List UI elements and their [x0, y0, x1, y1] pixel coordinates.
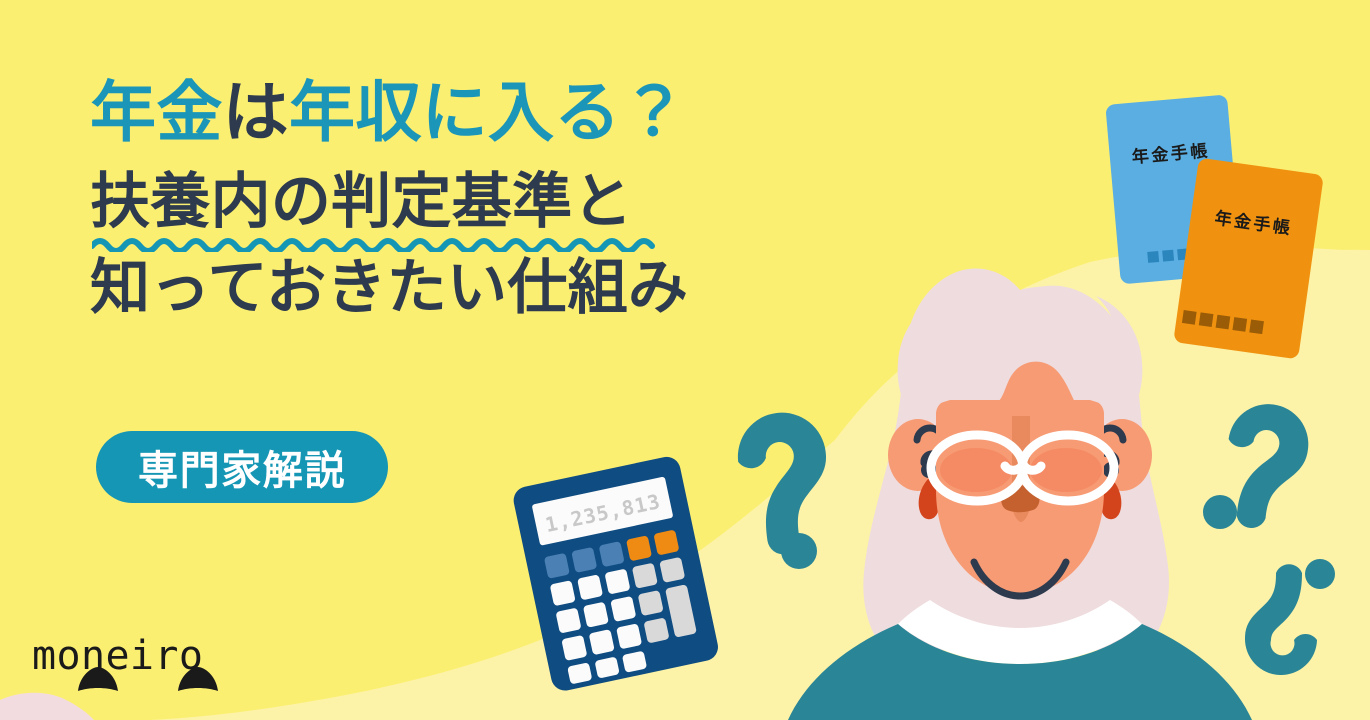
- headline-line-2-wrap: 扶養内の判定基準と: [90, 166, 688, 238]
- headline-line1-part-2: は: [223, 74, 289, 151]
- headline-line1-part-3: 年収に入る？: [289, 74, 687, 151]
- headline-line-1: 年金は年収に入る？: [90, 74, 688, 152]
- calculator-illustration: 1,235,813: [511, 454, 721, 693]
- status-badge-label: 専門家解説: [138, 438, 346, 496]
- status-badge: 専門家解説: [96, 431, 388, 503]
- character-cheek-left: [940, 448, 1012, 492]
- headline-line-2: 扶養内の判定基準と: [90, 166, 688, 238]
- logo-hill-right-icon: [176, 666, 220, 692]
- question-mark-inverted-icon: [1245, 559, 1335, 675]
- question-mark-left-icon: [732, 407, 839, 569]
- pension-booklet-orange: 年金手帳: [1173, 158, 1324, 360]
- headline-line1-part-1: 年金: [90, 74, 223, 151]
- wavy-underline-icon: [92, 234, 662, 252]
- question-mark-right-icon: [1203, 400, 1312, 533]
- logo-hill-left-icon: [76, 666, 120, 692]
- hero-banner: 年金手帳 年金手帳: [0, 0, 1370, 720]
- headline-line-3: 知っておきたい仕組み: [90, 252, 688, 324]
- logo[interactable]: moneiro: [28, 636, 228, 702]
- headline-block: 年金は年収に入る？ 扶養内の判定基準と 知っておきたい仕組み: [90, 74, 688, 324]
